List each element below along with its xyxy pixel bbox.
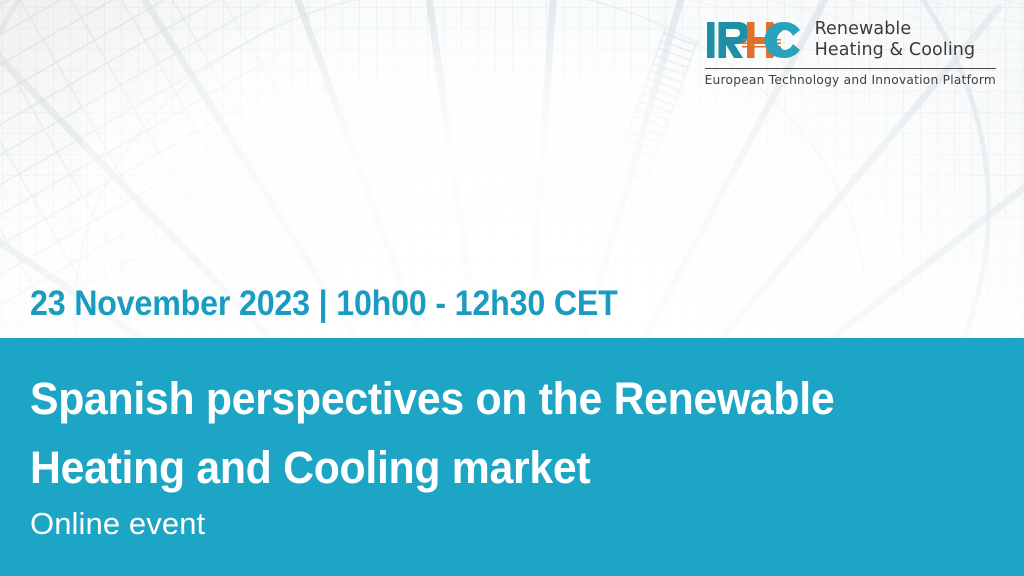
- logo-wordmark: Renewable Heating & Cooling: [815, 19, 976, 62]
- logo-row: Renewable Heating & Cooling: [705, 16, 996, 64]
- event-title-line1: Spanish perspectives on the Renewable: [30, 364, 923, 433]
- logo-tagline: European Technology and Innovation Platf…: [705, 73, 996, 87]
- event-format: Online event: [30, 505, 205, 543]
- irhc-logomark-icon: [705, 16, 803, 64]
- event-title: Spanish perspectives on the Renewable He…: [30, 364, 923, 502]
- event-banner: Renewable Heating & Cooling European Tec…: [0, 0, 1024, 576]
- rhc-logo[interactable]: Renewable Heating & Cooling European Tec…: [705, 16, 996, 87]
- event-date-time: 23 November 2023 | 10h00 - 12h30 CET: [30, 284, 618, 324]
- event-title-line2: Heating and Cooling market: [30, 433, 923, 502]
- logo-divider: [705, 68, 996, 69]
- logo-line1: Renewable: [815, 19, 976, 40]
- logo-line2: Heating & Cooling: [815, 40, 976, 61]
